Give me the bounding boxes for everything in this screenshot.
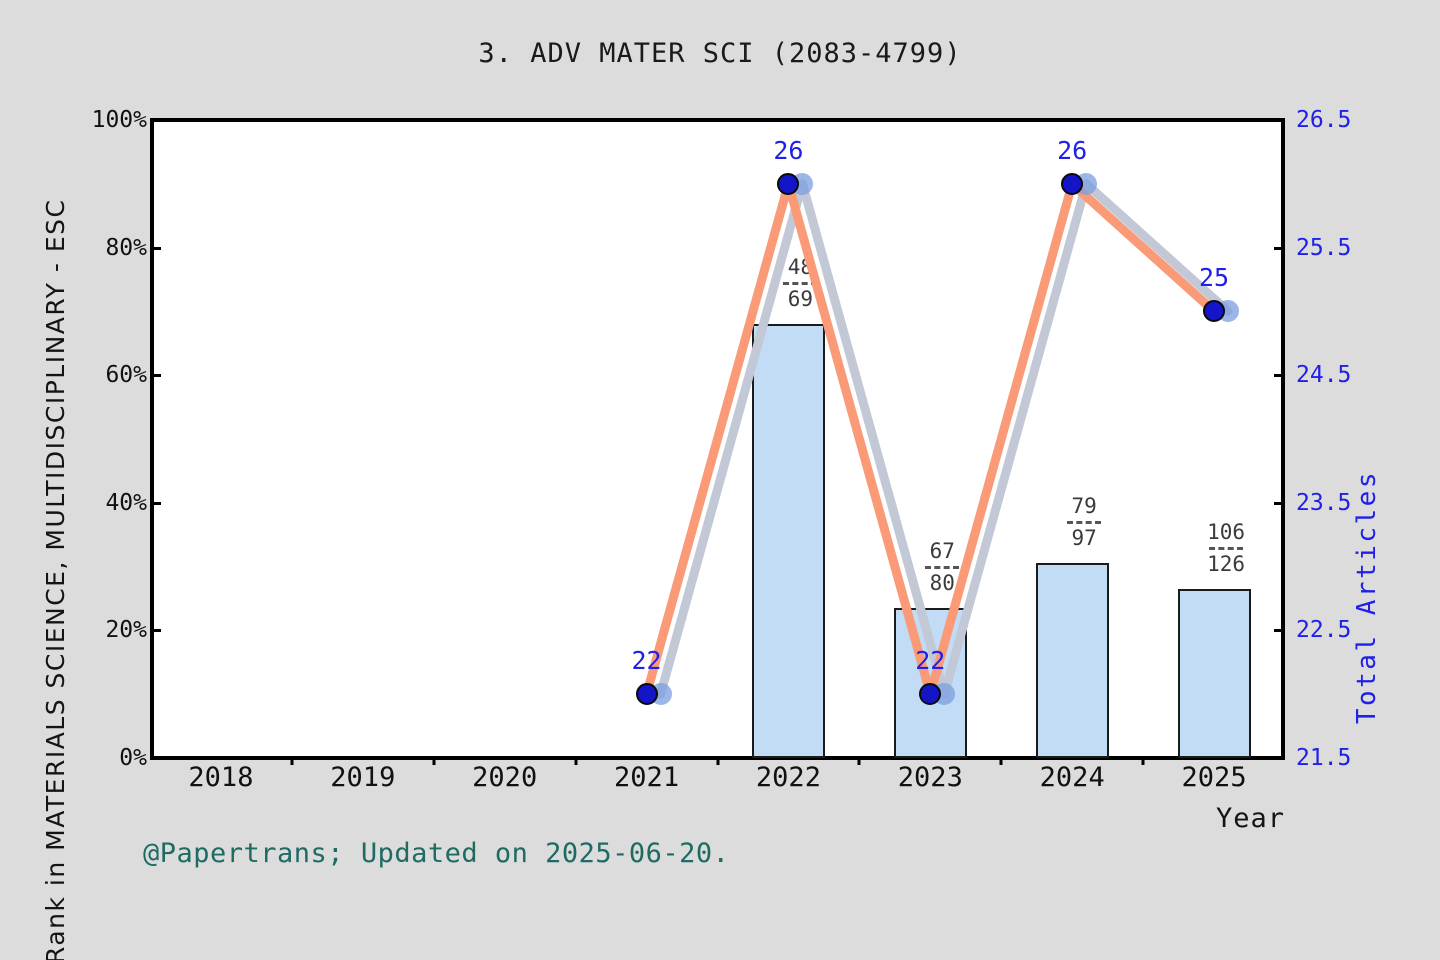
footer-credit: @Papertrans; Updated on 2025-06-20. — [143, 838, 729, 869]
rank-value-label-2021: 22 — [632, 646, 662, 675]
chart-canvas: 3. ADV MATER SCI (2083-4799) Rank in MAT… — [0, 0, 1440, 960]
rank-value-label-2023: 22 — [915, 646, 945, 675]
rank-value-label-2025: 25 — [1199, 263, 1229, 292]
rank-line-series — [0, 0, 1440, 960]
rank-marker-2025[interactable] — [1203, 300, 1225, 322]
rank-marker-2024[interactable] — [1061, 173, 1083, 195]
rank-value-label-2022: 26 — [773, 136, 803, 165]
rank-value-label-2024: 26 — [1057, 136, 1087, 165]
rank-marker-2021[interactable] — [636, 683, 658, 705]
rank-marker-2022[interactable] — [777, 173, 799, 195]
rank-line-ghost — [661, 184, 1229, 694]
rank-marker-2023[interactable] — [919, 683, 941, 705]
